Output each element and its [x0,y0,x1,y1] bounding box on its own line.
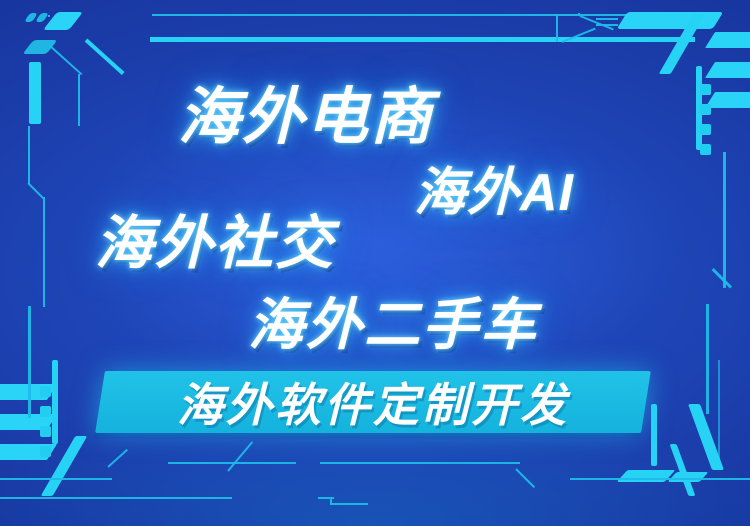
tl-slab-2 [23,40,58,54]
br-foot-b [667,472,708,482]
tl-diag-inner [85,39,125,75]
headline-used-cars: 海外二手车 [248,280,538,361]
top-rail-node [578,13,580,15]
tr-stripes [704,24,750,134]
bc-line-6 [318,497,334,499]
tr-trace-long [706,304,709,414]
bc-line-3 [0,497,232,499]
top-rail-thick [150,37,695,42]
tr-trace-vert [723,152,726,288]
top-rail-stem [556,14,558,42]
tl-trace-down [28,126,30,184]
tr-trace-thin [718,360,720,464]
bl-dots [40,386,51,457]
tl-trace-long [43,197,45,307]
br-foot-a [617,470,676,482]
bl-bracket-vert [52,360,58,444]
bc-line-1 [0,478,112,480]
bc-elbow-3 [515,468,535,488]
top-rail-thin [152,14,697,16]
br-bar-c [651,404,657,466]
bc-elbow-1 [107,449,128,468]
tl-diag-outer [48,44,82,75]
tr-bracket-vert [696,66,702,150]
headline-ecommerce: 海外电商 [178,66,434,156]
headline-social: 海外社交 [95,196,335,280]
top-rail-tick-b [596,24,618,26]
br-bar-b [670,444,696,496]
bc-step [330,499,332,505]
top-rail-tab [617,12,724,29]
bc-line-2 [168,462,296,464]
top-rail-diag-b [562,28,596,43]
bc-line-4 [320,462,520,464]
top-rail-tick-a [596,18,618,20]
tr-bracket-diag [659,14,706,74]
tr-dots [700,84,711,155]
bl-bracket-diag [41,436,88,496]
cta-banner-label: 海外软件定制开发 [100,371,646,433]
bc-elbow-2 [227,441,253,471]
bc-line-7 [330,503,368,505]
headline-ai: 海外AI [414,150,574,225]
tl-trace-elbow [27,182,44,199]
promo-banner-canvas: 海外电商 海外AI 海外社交 海外二手车 海外软件定制开发 [0,0,750,526]
tl-slab-1 [43,12,83,30]
top-rail-diag-a [580,15,614,30]
bc-line-5 [570,478,750,480]
tl-node [48,15,50,17]
tl-tick-2 [35,13,49,22]
br-bar-a [688,404,724,470]
bl-trace-vert [28,306,31,418]
tl-vertical-bar [29,62,41,124]
tr-trace-elbow [712,268,733,289]
tl-tick-1 [24,13,38,22]
tl-vert-outer [78,74,80,126]
bl-stripes [0,384,56,494]
